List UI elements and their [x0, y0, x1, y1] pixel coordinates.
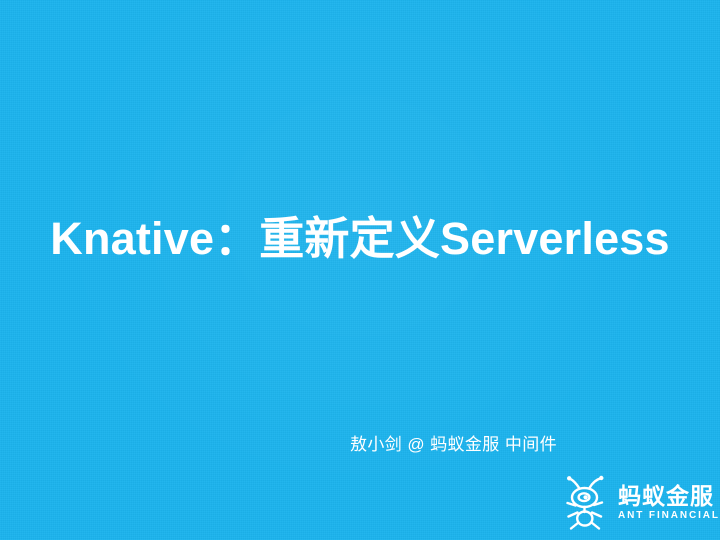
ant-financial-logo-text: 蚂蚁金服 ANT FINANCIAL: [618, 484, 720, 522]
logo-name-cn: 蚂蚁金服: [618, 484, 720, 509]
presentation-slide: Knative：重新定义Serverless 敖小剑 @ 蚂蚁金服 中间件: [0, 0, 720, 540]
slide-title-latin-lead: Knative: [50, 213, 214, 264]
slide-title-latin-tail: Serverless: [440, 213, 670, 264]
ant-financial-logo: 蚂蚁金服 ANT FINANCIAL: [556, 472, 718, 534]
logo-name-en: ANT FINANCIAL: [618, 509, 720, 522]
slide-title-cjk: 重新定义: [259, 213, 440, 264]
slide-subtitle: 敖小剑 @ 蚂蚁金服 中间件: [350, 433, 557, 457]
slide-title: Knative：重新定义Serverless: [0, 208, 720, 270]
ant-mascot-icon: [556, 474, 616, 532]
slide-title-colon: ：: [214, 213, 259, 264]
